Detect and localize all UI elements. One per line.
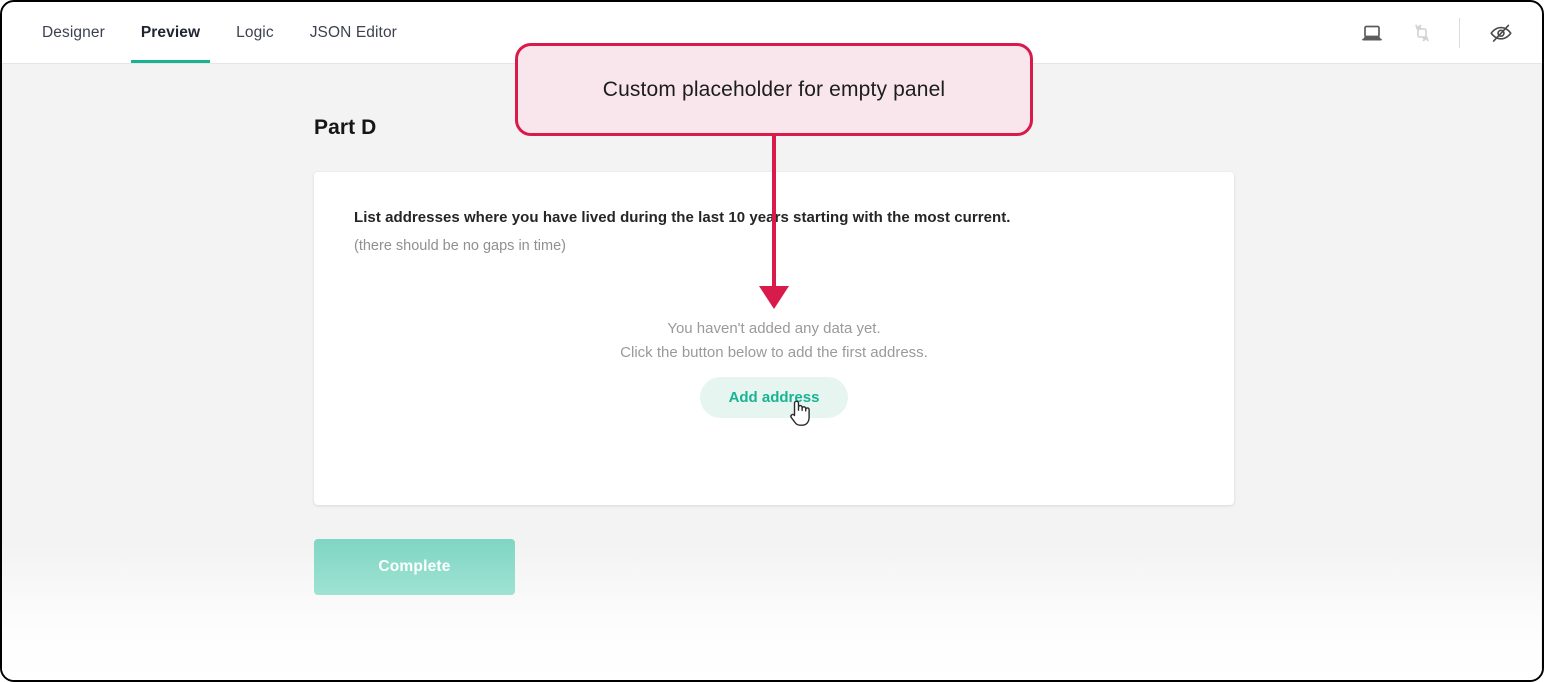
tab-designer[interactable]: Designer	[24, 2, 123, 63]
question-title: List addresses where you have lived duri…	[354, 209, 1010, 226]
toolbar-actions	[1349, 2, 1542, 63]
tab-logic-label: Logic	[236, 24, 274, 42]
toolbar-divider	[1459, 18, 1460, 48]
page-title: Part D	[314, 116, 376, 140]
eye-slash-icon	[1488, 20, 1514, 46]
tab-json-editor-label: JSON Editor	[310, 24, 397, 42]
tab-bar: Designer Preview Logic JSON Editor	[2, 2, 415, 63]
survey-creator-window: Designer Preview Logic JSON Editor	[0, 0, 1544, 682]
tab-json-editor[interactable]: JSON Editor	[292, 2, 415, 63]
question-panel: List addresses where you have lived duri…	[314, 172, 1234, 505]
preview-canvas: Part D List addresses where you have liv…	[2, 64, 1542, 680]
empty-placeholder-line-2: Click the button below to add the first …	[314, 341, 1234, 365]
tab-preview-label: Preview	[141, 24, 200, 42]
empty-placeholder-line-1: You haven't added any data yet.	[314, 317, 1234, 341]
tab-preview[interactable]: Preview	[123, 2, 218, 63]
empty-panel-placeholder: You haven't added any data yet. Click th…	[314, 317, 1234, 418]
tab-logic[interactable]: Logic	[218, 2, 292, 63]
toggle-invisible-elements-button[interactable]	[1478, 11, 1524, 55]
question-description: (there should be no gaps in time)	[354, 238, 566, 254]
tab-designer-label: Designer	[42, 24, 105, 42]
preview-toolbar: Designer Preview Logic JSON Editor	[2, 2, 1542, 64]
rotate-device-icon	[1410, 21, 1434, 45]
add-address-button[interactable]: Add address	[700, 377, 849, 418]
desktop-device-button[interactable]	[1349, 11, 1395, 55]
desktop-device-icon	[1360, 21, 1384, 45]
rotate-device-button[interactable]	[1399, 11, 1445, 55]
complete-button[interactable]: Complete	[314, 539, 515, 595]
